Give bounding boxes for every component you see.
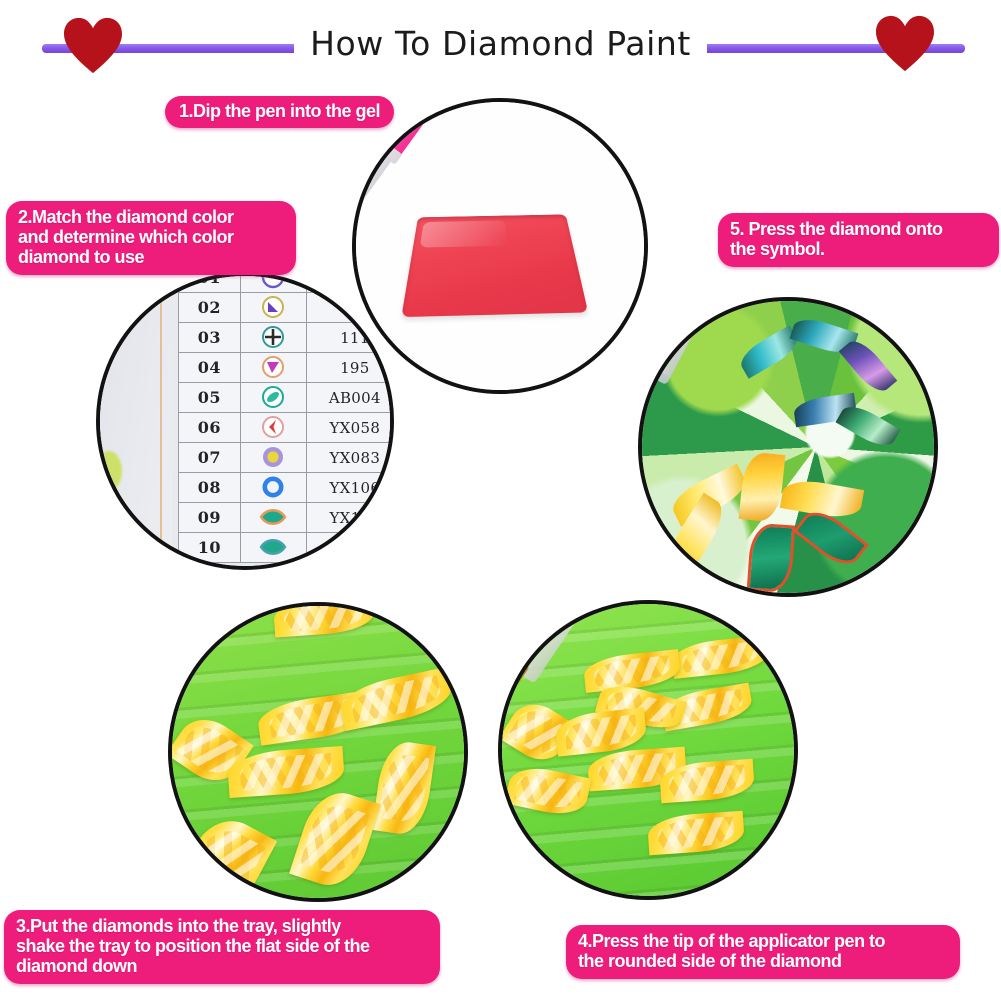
leaf-symbol xyxy=(240,533,306,563)
legend-index: 07 xyxy=(179,443,241,473)
table-row: 02 093 xyxy=(179,293,395,323)
step-2-photo: 01 020 02 xyxy=(96,272,394,570)
table-row: 03 111 xyxy=(179,323,395,353)
legend-index: 01 xyxy=(179,272,241,293)
legend-code: 195 xyxy=(306,353,394,383)
legend-code: AB004 xyxy=(306,383,394,413)
gel-wax-pad xyxy=(401,214,588,317)
step-4-label: 4.Press the tip of the applicator pen to… xyxy=(566,925,960,979)
legend-code: 111 xyxy=(306,323,394,353)
legend-code: 093 xyxy=(306,293,394,323)
legend-index: 06 xyxy=(179,413,241,443)
step-1-photo xyxy=(352,98,648,394)
step-4-photo xyxy=(498,600,798,900)
plus-symbol xyxy=(240,323,306,353)
oval-symbol xyxy=(240,383,306,413)
dot-symbol xyxy=(240,443,306,473)
step-2-scene: 01 020 02 xyxy=(100,276,390,566)
legend-code xyxy=(306,533,394,563)
ring-symbol xyxy=(240,473,306,503)
table-row: 05 AB004 xyxy=(179,383,395,413)
legend-index: 02 xyxy=(179,293,241,323)
symbol-legend-table: 01 020 02 xyxy=(178,272,394,563)
legend-index: 03 xyxy=(179,323,241,353)
step-1-scene xyxy=(356,102,644,390)
step-4-scene xyxy=(502,604,794,896)
triangle-symbol xyxy=(240,353,306,383)
legend-code: YX058 xyxy=(306,413,394,443)
triangle-symbol xyxy=(240,293,306,323)
step-3-scene xyxy=(172,606,464,898)
face-symbol xyxy=(240,272,306,293)
table-row: 01 020 xyxy=(179,272,395,293)
legend-index: 10 xyxy=(179,533,241,563)
legend-index: 08 xyxy=(179,473,241,503)
canvas-blob-teal xyxy=(98,511,124,533)
table-row: 10 xyxy=(179,533,395,563)
table-row: 04 195 xyxy=(179,353,395,383)
canvas-blob-green xyxy=(96,451,122,491)
table-row: 06 YX058 xyxy=(179,413,395,443)
legend-index: 05 xyxy=(179,383,241,413)
paper-guide-line xyxy=(160,276,162,566)
step-5-photo xyxy=(638,297,938,597)
legend-code: YX083 xyxy=(306,443,394,473)
step-3-photo xyxy=(168,602,468,902)
page-title-text: How To Diamond Paint xyxy=(294,24,707,63)
arrow-symbol xyxy=(240,413,306,443)
step-5-scene xyxy=(642,301,934,593)
leaf-symbol xyxy=(240,503,306,533)
legend-index: 04 xyxy=(179,353,241,383)
legend-body: 01 020 02 xyxy=(179,272,395,563)
legend-code: YX106 xyxy=(306,473,394,503)
step-5-label: 5. Press the diamond onto the symbol. xyxy=(718,213,999,267)
page-title: How To Diamond Paint xyxy=(0,16,1001,72)
step-2-label: 2.Match the diamond color and determine … xyxy=(6,201,296,275)
table-row: 09 YX125 xyxy=(179,503,395,533)
step-3-label: 3.Put the diamonds into the tray, slight… xyxy=(4,910,440,984)
infographic-canvas: How To Diamond Paint xyxy=(0,0,1001,1001)
table-row: 07 YX083 xyxy=(179,443,395,473)
legend-code: YX125 xyxy=(306,503,394,533)
legend-index: 09 xyxy=(179,503,241,533)
page-header: How To Diamond Paint xyxy=(0,0,1001,92)
table-row: 08 YX106 xyxy=(179,473,395,503)
legend-code: 020 xyxy=(306,272,394,293)
step-1-label: 1.Dip the pen into the gel xyxy=(165,96,394,128)
